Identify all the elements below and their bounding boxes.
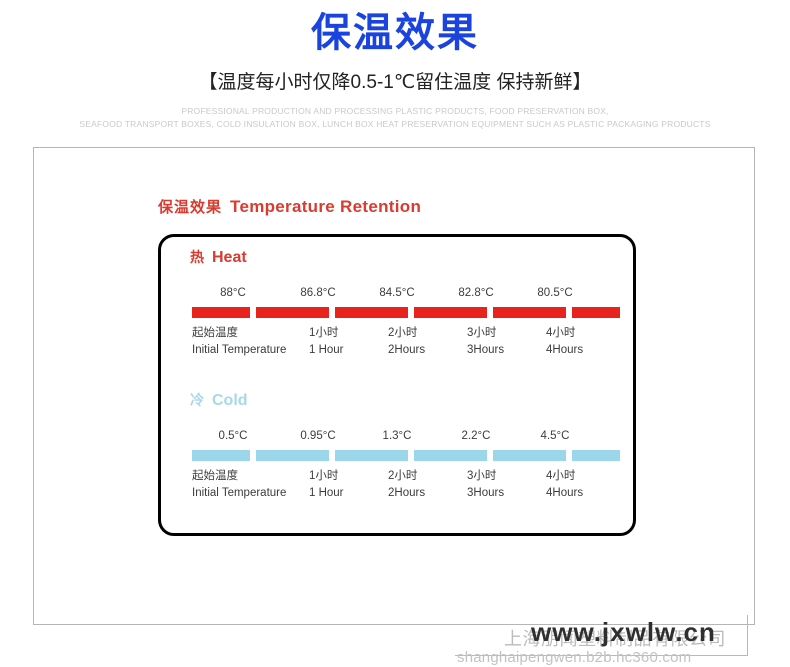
heat-axis-labels: 起始温度 Initial Temperature 1小时 1 Hour 2小时 … (192, 325, 630, 363)
section-heading-en: Temperature Retention (230, 197, 421, 216)
page-header: 保温效果 【温度每小时仅降0.5-1℃留住温度 保持新鲜】 PROFESSION… (0, 0, 790, 131)
heat-group-label: 热Heat (190, 247, 247, 267)
heat-tick-2-en: 2Hours (388, 342, 425, 359)
watermark-site: shanghaipengwen.b2b.hc360.com (457, 649, 691, 666)
heat-tick-1: 1小时 1 Hour (309, 325, 344, 359)
cold-tick-4-en: 4Hours (546, 485, 583, 502)
content-panel: 保温效果Temperature Retention 热Heat 88°C 86.… (33, 147, 755, 625)
section-heading-cn: 保温效果 (158, 199, 222, 216)
page-subtitle: 【温度每小时仅降0.5-1℃留住温度 保持新鲜】 (0, 68, 790, 98)
heat-bar-segment-3 (414, 307, 487, 318)
cold-tick-3-en: 3Hours (467, 485, 504, 502)
heat-tick-1-en: 1 Hour (309, 342, 344, 359)
heat-temperature-values: 88°C 86.8°C 84.5°C 82.8°C 80.5°C (192, 287, 620, 305)
heat-tick-2: 2小时 2Hours (388, 325, 425, 359)
heat-temp-1: 86.8°C (286, 287, 350, 299)
cold-bar-segment-2 (335, 450, 408, 461)
cold-tick-4: 4小时 4Hours (546, 468, 583, 502)
cold-label-cn: 冷 (190, 392, 205, 408)
cold-tick-4-cn: 4小时 (546, 468, 583, 485)
cold-tick-3-cn: 3小时 (467, 468, 504, 485)
cold-temp-2: 1.3°C (365, 430, 429, 442)
heat-tick-4-en: 4Hours (546, 342, 583, 359)
heat-label-en: Heat (212, 249, 247, 266)
heat-bar-segment-2 (335, 307, 408, 318)
english-line-1: PROFESSIONAL PRODUCTION AND PROCESSING P… (0, 105, 790, 118)
heat-tick-4: 4小时 4Hours (546, 325, 583, 359)
watermark-divider-vertical (747, 615, 748, 655)
heat-tick-3-en: 3Hours (467, 342, 504, 359)
heat-tick-0-en: Initial Temperature (192, 342, 286, 359)
cold-tick-3: 3小时 3Hours (467, 468, 504, 502)
heat-tick-2-cn: 2小时 (388, 325, 425, 342)
heat-tick-0: 起始温度 Initial Temperature (192, 325, 286, 359)
cold-bar-segment-5 (572, 450, 620, 461)
cold-tick-2: 2小时 2Hours (388, 468, 425, 502)
page-title: 保温效果 (0, 8, 790, 58)
cold-bar-segment-1 (256, 450, 329, 461)
heat-bar-segment-1 (256, 307, 329, 318)
heat-temp-3: 82.8°C (444, 287, 508, 299)
heat-label-cn: 热 (190, 249, 205, 265)
english-description: PROFESSIONAL PRODUCTION AND PROCESSING P… (0, 105, 790, 131)
cold-temp-3: 2.2°C (444, 430, 508, 442)
cold-tick-0: 起始温度 Initial Temperature (192, 468, 286, 502)
cold-bar-segment-0 (192, 450, 250, 461)
cold-label-en: Cold (212, 392, 248, 409)
section-heading: 保温效果Temperature Retention (158, 196, 421, 217)
heat-bar-segment-4 (493, 307, 566, 318)
cold-temp-1: 0.95°C (286, 430, 350, 442)
watermark: 上海朋闻塑料制品有限公司 shanghaipengwen.b2b.hc360.c… (455, 615, 790, 667)
heat-bar (192, 307, 620, 318)
heat-temp-4: 80.5°C (523, 287, 587, 299)
cold-temp-4: 4.5°C (523, 430, 587, 442)
heat-tick-3-cn: 3小时 (467, 325, 504, 342)
heat-tick-1-cn: 1小时 (309, 325, 344, 342)
watermark-url: www.jxwlw.cn (531, 617, 716, 648)
cold-temp-0: 0.5°C (201, 430, 265, 442)
cold-bar (192, 450, 620, 461)
cold-tick-1-en: 1 Hour (309, 485, 344, 502)
cold-tick-0-en: Initial Temperature (192, 485, 286, 502)
cold-tick-0-cn: 起始温度 (192, 468, 286, 485)
heat-tick-0-cn: 起始温度 (192, 325, 286, 342)
cold-tick-1-cn: 1小时 (309, 468, 344, 485)
cold-tick-2-cn: 2小时 (388, 468, 425, 485)
temperature-chart-card: 热Heat 88°C 86.8°C 84.5°C 82.8°C 80.5°C 起… (158, 234, 636, 536)
cold-bar-segment-4 (493, 450, 566, 461)
heat-temp-2: 84.5°C (365, 287, 429, 299)
heat-bar-segment-0 (192, 307, 250, 318)
cold-temperature-values: 0.5°C 0.95°C 1.3°C 2.2°C 4.5°C (192, 430, 620, 448)
heat-temp-0: 88°C (201, 287, 265, 299)
english-line-2: SEAFOOD TRANSPORT BOXES, COLD INSULATION… (0, 118, 790, 131)
heat-tick-3: 3小时 3Hours (467, 325, 504, 359)
heat-bar-segment-5 (572, 307, 620, 318)
cold-tick-1: 1小时 1 Hour (309, 468, 344, 502)
cold-axis-labels: 起始温度 Initial Temperature 1小时 1 Hour 2小时 … (192, 468, 630, 506)
cold-tick-2-en: 2Hours (388, 485, 425, 502)
cold-group-label: 冷Cold (190, 390, 248, 410)
heat-tick-4-cn: 4小时 (546, 325, 583, 342)
cold-bar-segment-3 (414, 450, 487, 461)
